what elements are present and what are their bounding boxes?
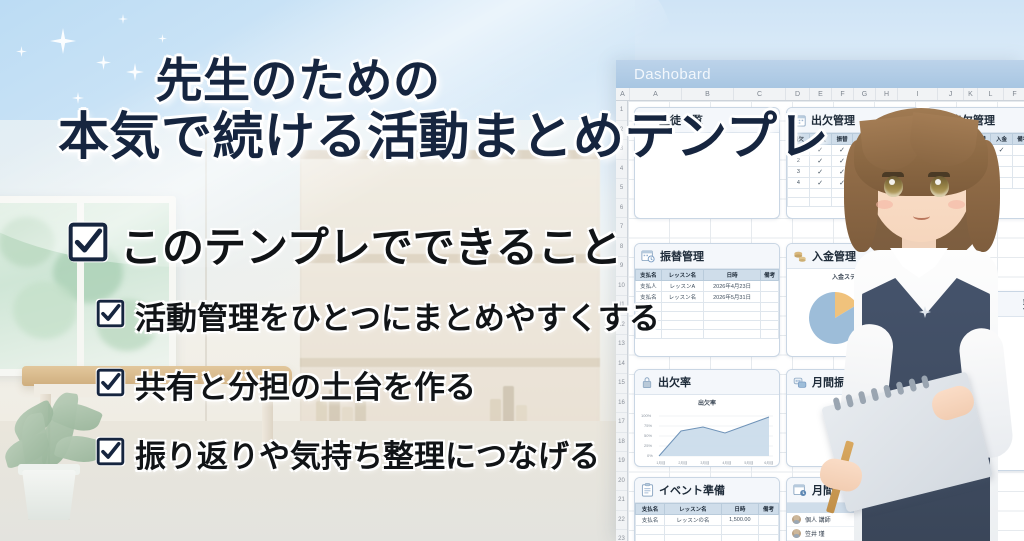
cell[interactable]: レッスンの名 <box>665 515 722 526</box>
col-header: 日時 <box>703 270 760 281</box>
card-header: 振替管理 <box>635 244 779 269</box>
checkbox-checked-icon <box>68 222 108 267</box>
cell[interactable]: 3 <box>788 167 810 178</box>
cell[interactable] <box>788 189 810 198</box>
table-row[interactable]: 支払名 レッスンの名 1,500.00 <box>636 515 779 526</box>
table-row[interactable] <box>636 535 779 541</box>
cell[interactable]: 支払人 <box>636 281 662 292</box>
cell[interactable] <box>665 535 722 541</box>
table-row[interactable]: 支払人 レッスンA 2026年4月23日 <box>636 281 779 292</box>
event-prep-table[interactable]: 支払名 レッスン名 日時 備考 支払名 レッスンの名 1,500.00 <box>635 503 779 541</box>
headline: 先生のための 本気で続ける活動まとめテンプレ <box>58 56 778 164</box>
col-header: 支払名 <box>636 504 665 515</box>
calendar-clock-icon <box>793 483 807 497</box>
avatar <box>792 515 801 524</box>
checkbox-checked-icon <box>96 368 125 402</box>
card-event-prep[interactable]: イベント準備 支払名 レッスン名 日時 備考 支払名 レッスンの名 1,500.… <box>634 477 780 541</box>
teacher-illustration <box>814 88 1024 541</box>
card-title: イベント準備 <box>659 482 725 498</box>
cell[interactable]: 2026年4月23日 <box>703 281 760 292</box>
checklist-item: 活動管理をひとつにまとめやすくする <box>96 293 660 338</box>
checkbox-checked-icon <box>96 437 125 471</box>
checklist-items: 活動管理をひとつにまとめやすくする 共有と分担の土台を作る 振り返りや気持ち整理… <box>96 293 660 476</box>
card-title: 振替管理 <box>660 248 704 264</box>
cell[interactable] <box>661 312 703 321</box>
cell[interactable]: 支払名 <box>636 515 665 526</box>
checklist-item: 共有と分担の土台を作る <box>96 362 660 407</box>
col-header: 支払名 <box>636 270 662 281</box>
cell[interactable] <box>703 312 760 321</box>
headline-line1: 先生のための <box>58 56 538 106</box>
cell[interactable] <box>758 515 778 526</box>
cell[interactable] <box>761 292 779 303</box>
cell[interactable] <box>761 321 779 330</box>
checkbox-checked-icon <box>96 299 125 333</box>
row-number[interactable]: 23 <box>616 530 627 541</box>
table-header-row: 支払名 レッスン名 日時 備考 <box>636 504 779 515</box>
cell[interactable] <box>636 535 665 541</box>
cell[interactable]: 2026年5月31日 <box>703 292 760 303</box>
cell[interactable]: レッスン名 <box>661 292 703 303</box>
table-row[interactable] <box>636 526 779 535</box>
checklist-item-label: 活動管理をひとつにまとめやすくする <box>135 293 660 338</box>
col-header: レッスン名 <box>661 270 703 281</box>
col-header: 備考 <box>758 504 778 515</box>
cell[interactable] <box>661 303 703 312</box>
cell[interactable]: レッスンA <box>661 281 703 292</box>
card-title: 出欠率 <box>658 374 691 390</box>
cell[interactable] <box>761 281 779 292</box>
cell[interactable] <box>721 526 758 535</box>
cell[interactable] <box>761 312 779 321</box>
checklist-item-label: 振り返りや気持ち整理につなげる <box>135 431 600 476</box>
cell[interactable] <box>788 198 810 207</box>
cell[interactable] <box>761 303 779 312</box>
x-tick: 2月目 <box>678 460 687 465</box>
row-number[interactable]: 21 <box>616 491 627 511</box>
slide-canvas: Dashobard A A B C D E F G H I J K L F G … <box>0 0 1024 541</box>
cell[interactable] <box>665 526 722 535</box>
table-header-row: 支払名 レッスン名 日時 備考 <box>636 270 779 281</box>
cell[interactable] <box>703 330 760 339</box>
cell[interactable] <box>758 535 778 541</box>
row-number[interactable]: 5 <box>616 179 627 199</box>
row-number[interactable]: 22 <box>616 511 627 531</box>
x-tick: 3月目 <box>700 460 709 465</box>
col-header: 備考 <box>761 270 779 281</box>
x-tick: 5月目 <box>744 460 753 465</box>
x-tick: 6月目 <box>764 460 773 465</box>
calendar-clock-icon <box>641 249 655 263</box>
checklist-main: このテンプレでできること <box>68 214 622 275</box>
cell[interactable] <box>661 330 703 339</box>
checklist-item-label: 共有と分担の土台を作る <box>135 362 476 407</box>
clipboard-icon <box>641 483 654 497</box>
coins-icon <box>793 249 807 263</box>
cell[interactable]: 4 <box>788 178 810 189</box>
checklist-main-label: このテンプレでできること <box>120 214 622 275</box>
cell[interactable]: 1,500.00 <box>721 515 758 526</box>
x-tick: 4月目 <box>722 460 731 465</box>
checklist-item: 振り返りや気持ち整理につなげる <box>96 431 660 476</box>
cell[interactable] <box>636 526 665 535</box>
card-header: イベント準備 <box>635 478 779 503</box>
column-header[interactable]: D <box>786 88 810 100</box>
cell[interactable] <box>761 330 779 339</box>
avatar <box>792 529 801 538</box>
col-header: レッスン名 <box>665 504 722 515</box>
cell[interactable] <box>758 526 778 535</box>
cell[interactable] <box>703 303 760 312</box>
headline-line2: 本気で続ける活動まとめテンプレ <box>58 110 778 164</box>
cell[interactable] <box>703 321 760 330</box>
chat-icon <box>793 376 807 389</box>
col-header: 日時 <box>721 504 758 515</box>
cell[interactable] <box>721 535 758 541</box>
cell[interactable] <box>661 321 703 330</box>
